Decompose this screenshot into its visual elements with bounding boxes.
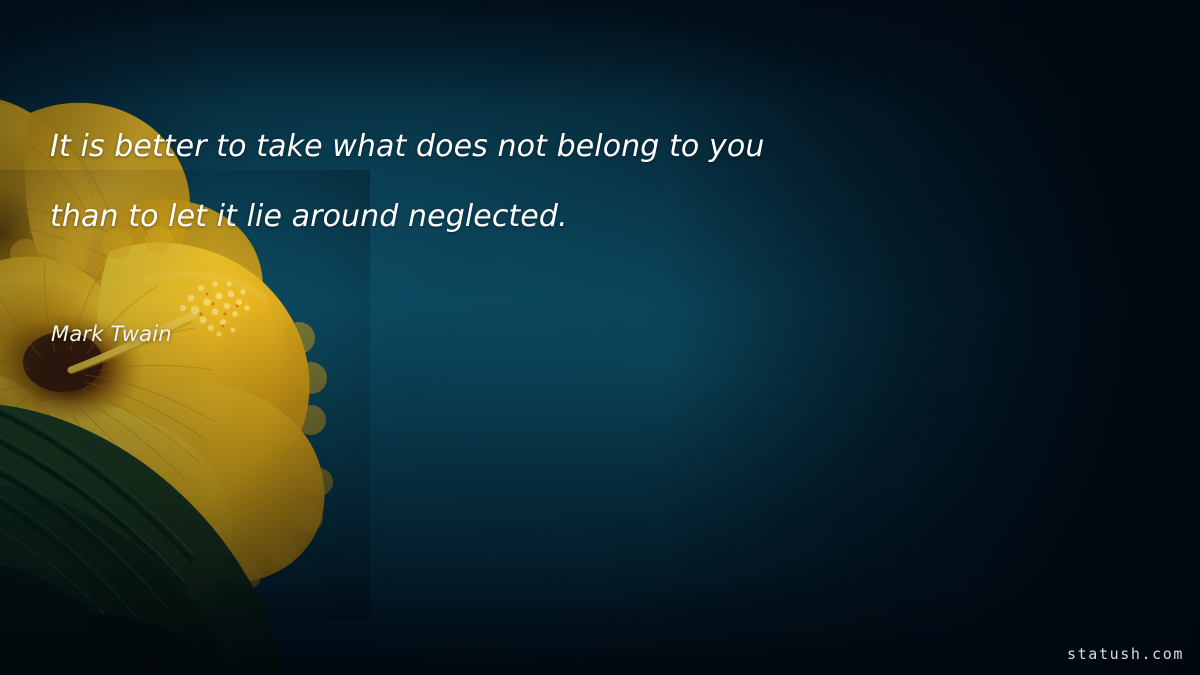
quote-author: Mark Twain (51, 320, 172, 348)
quote-text: It is better to take what does not belon… (50, 112, 900, 252)
quote-card: It is better to take what does not belon… (0, 0, 1200, 675)
site-watermark: statush.com (1067, 645, 1184, 663)
quote-line-2: than to let it lie around neglected. (50, 182, 900, 252)
quote-line-1: It is better to take what does not belon… (50, 112, 900, 182)
background-vignette (0, 0, 1200, 675)
